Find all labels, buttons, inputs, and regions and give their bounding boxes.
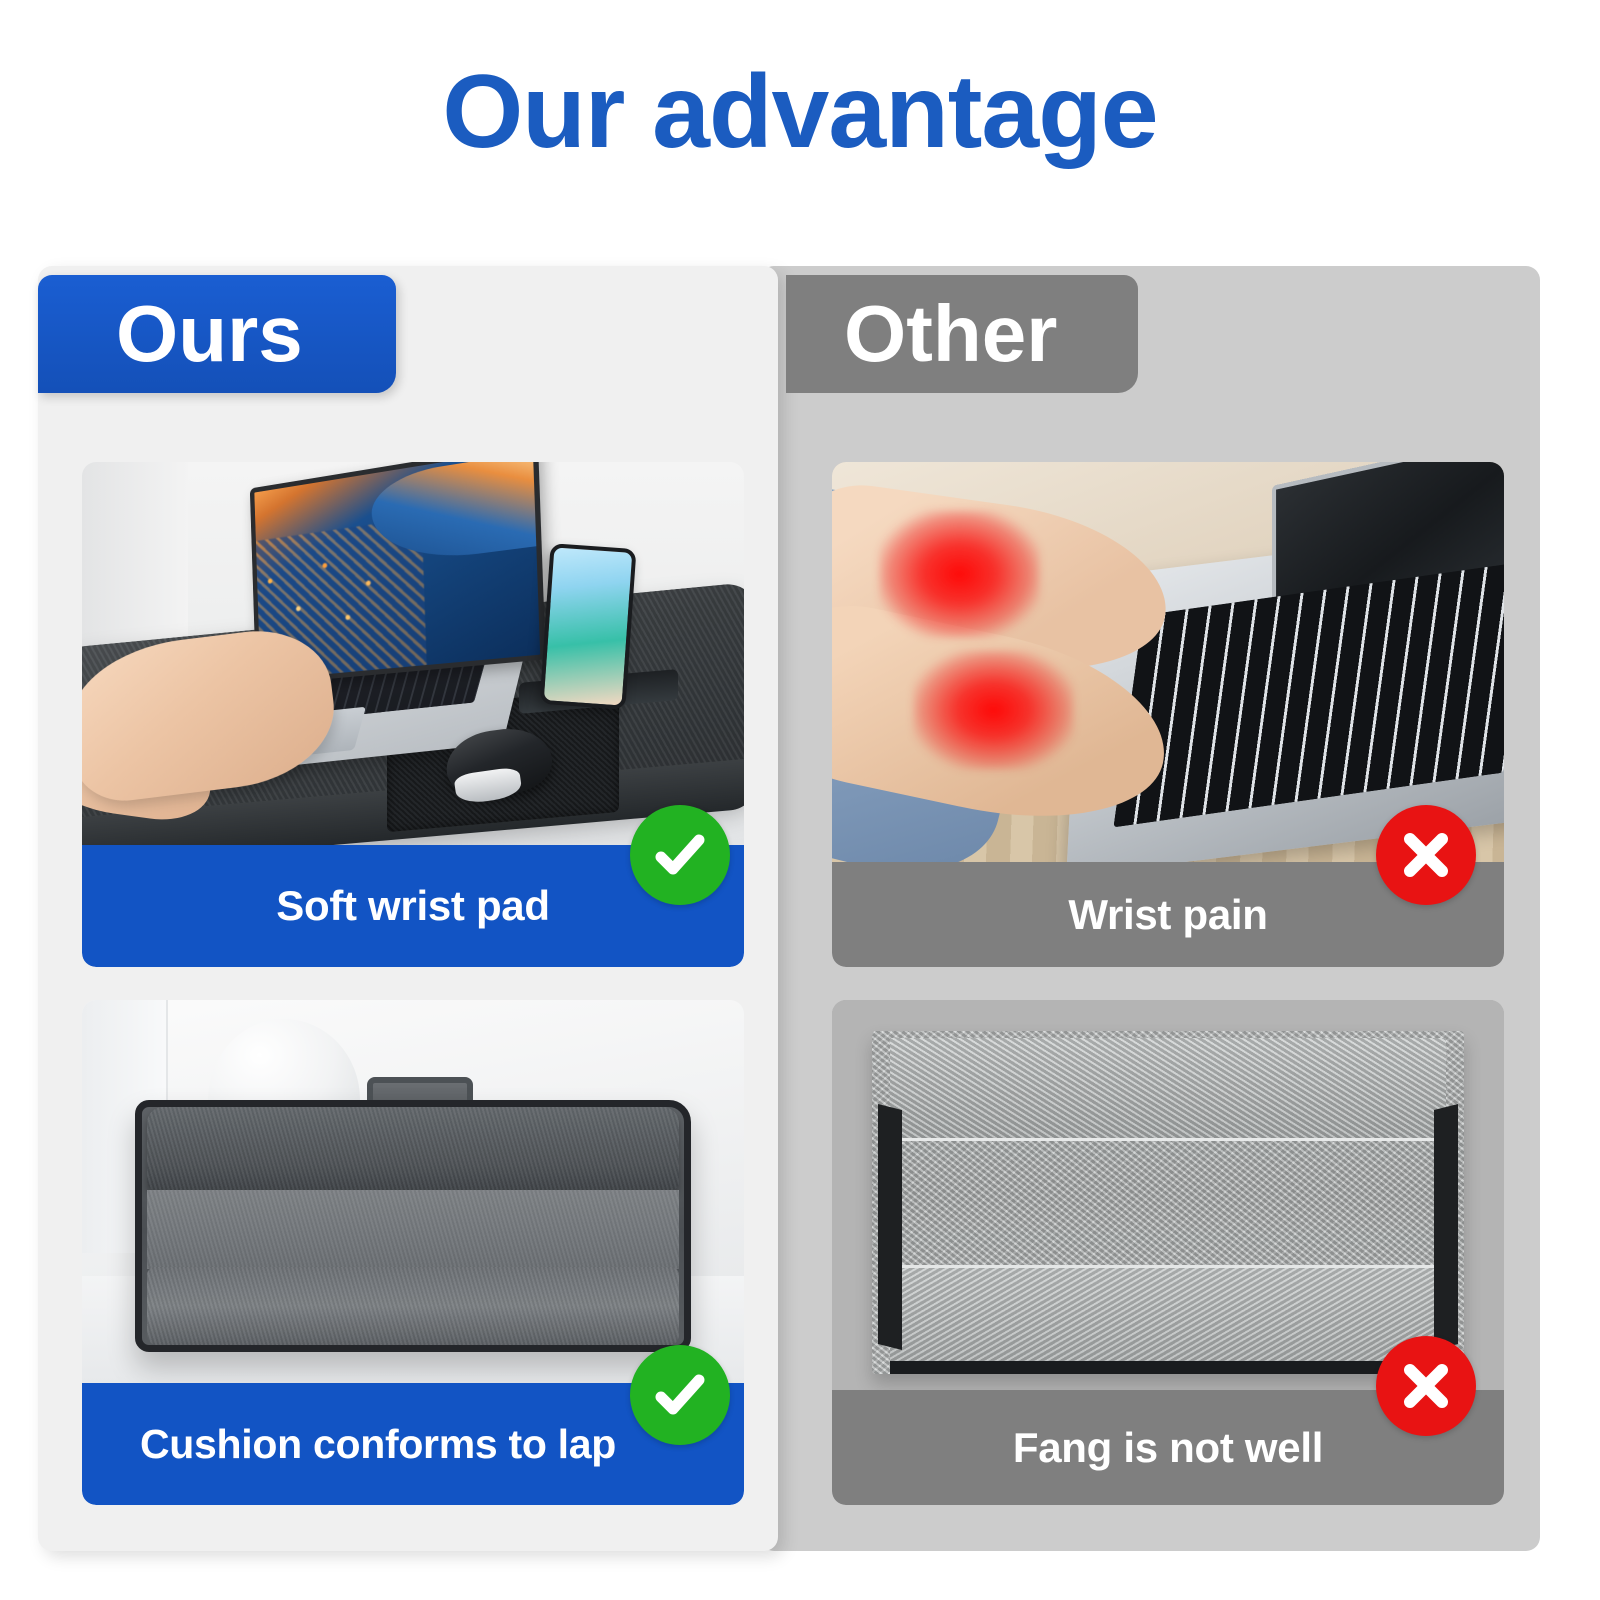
cross-icon [1376,1336,1476,1436]
cross-icon [1376,805,1476,905]
photo-laptop-lap-desk [82,462,744,845]
caption-other-2-text: Fang is not well [1013,1424,1323,1472]
badge-ours-label: Ours [116,288,303,380]
caption-other-1-text: Wrist pain [1068,891,1267,939]
photo-cushion-lap-desk [82,1000,744,1383]
caption-ours-1-text: Soft wrist pad [276,882,549,930]
photo-coarse-fabric-pad [832,1000,1504,1390]
photo-wrist-pain [832,462,1504,862]
badge-other: Other [786,275,1138,393]
check-icon [630,805,730,905]
page-title: Our advantage [0,58,1600,167]
caption-ours-2-text: Cushion conforms to lap [140,1421,616,1468]
badge-other-label: Other [844,288,1057,380]
comparison-infographic: Our advantage Other Ours [0,0,1600,1600]
badge-ours: Ours [38,275,396,393]
check-icon [630,1345,730,1445]
